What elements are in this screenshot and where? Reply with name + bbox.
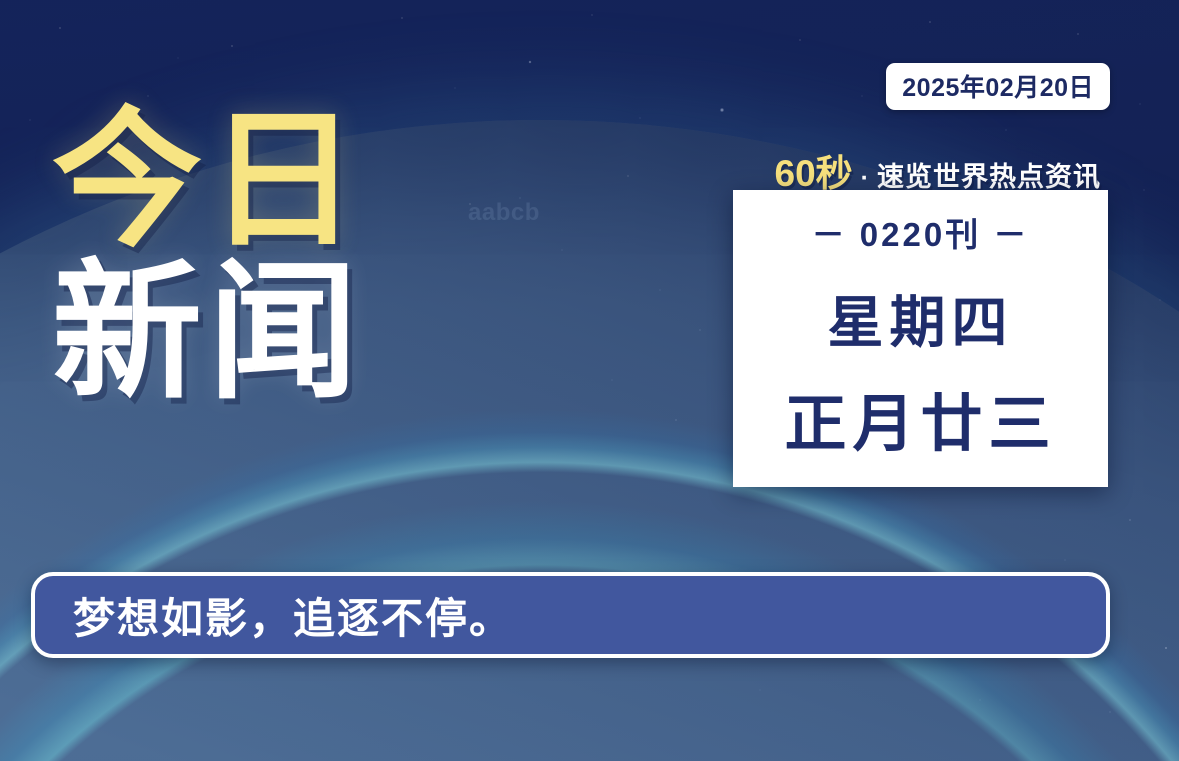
subtitle-tagline: 速览世界热点资讯 (877, 155, 1101, 194)
card-weekday: 星期四 (828, 278, 1014, 359)
card-issue-number: － 0220刊 － (812, 208, 1030, 256)
slogan-banner: 梦想如影，追逐不停。 (31, 572, 1110, 658)
slogan-text: 梦想如影，追逐不停。 (35, 585, 513, 646)
card-lunar-date: 正月廿三 (784, 373, 1056, 463)
subtitle-seconds: 60秒 (775, 143, 853, 197)
date-badge: 2025年02月20日 (886, 63, 1110, 110)
subtitle-row: 60秒 · 速览世界热点资讯 (775, 143, 1101, 197)
title-line-news: 新闻 (52, 248, 692, 416)
title-line-today: 今日 (52, 96, 692, 264)
date-info-card: － 0220刊 － 星期四 正月廿三 (733, 190, 1108, 487)
subtitle-separator-dot: · (859, 164, 871, 193)
news-poster: aabcb 今日 新闻 2025年02月20日 60秒 · 速览世界热点资讯 －… (0, 0, 1179, 761)
poster-title: 今日 新闻 (52, 96, 692, 416)
